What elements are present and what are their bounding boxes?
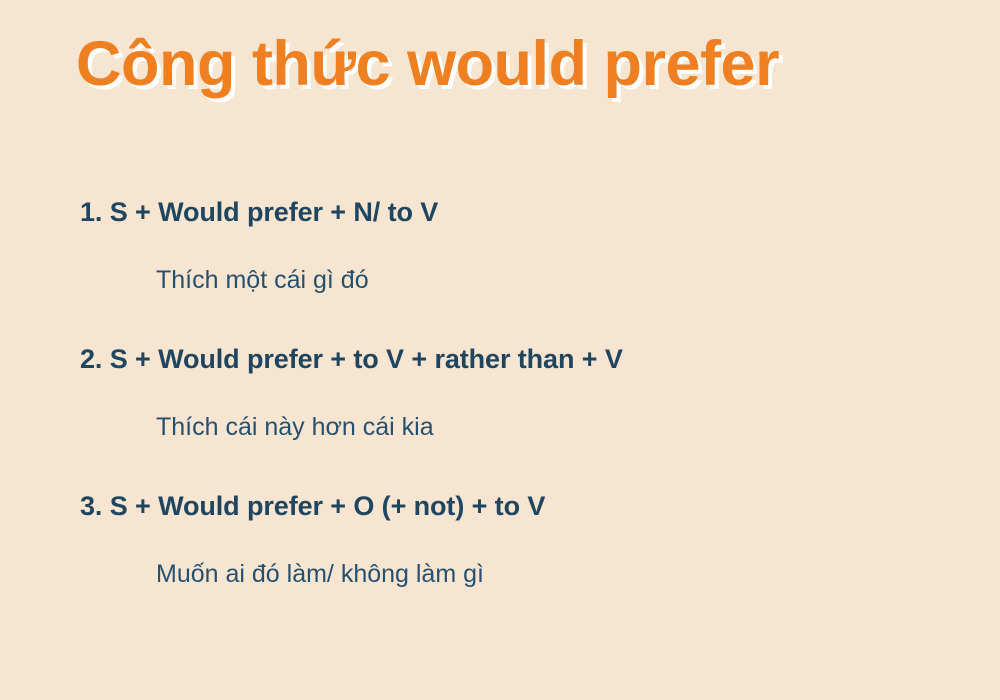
- formula-block-3: 3. S + Would prefer + O (+ not) + to V M…: [0, 490, 1000, 590]
- meaning-text-1: Thích một cái gì đó: [156, 265, 1000, 296]
- formula-block-1: 1. S + Would prefer + N/ to V Thích một …: [0, 196, 1000, 296]
- meaning-text-3: Muốn ai đó làm/ không làm gì: [156, 559, 1000, 590]
- page-title: Công thức would prefer: [76, 28, 779, 100]
- slide-canvas: Công thức would prefer 1. S + Would pref…: [0, 0, 1000, 700]
- formula-text-3: 3. S + Would prefer + O (+ not) + to V: [80, 490, 1000, 524]
- spacer: [0, 296, 1000, 343]
- formula-text-2: 2. S + Would prefer + to V + rather than…: [80, 343, 1000, 377]
- formula-block-2: 2. S + Would prefer + to V + rather than…: [0, 343, 1000, 443]
- formula-list: 1. S + Would prefer + N/ to V Thích một …: [0, 196, 1000, 590]
- spacer: [0, 524, 1000, 559]
- formula-text-1: 1. S + Would prefer + N/ to V: [80, 196, 1000, 230]
- spacer: [0, 443, 1000, 490]
- meaning-text-2: Thích cái này hơn cái kia: [156, 412, 1000, 443]
- spacer: [0, 377, 1000, 412]
- spacer: [0, 230, 1000, 265]
